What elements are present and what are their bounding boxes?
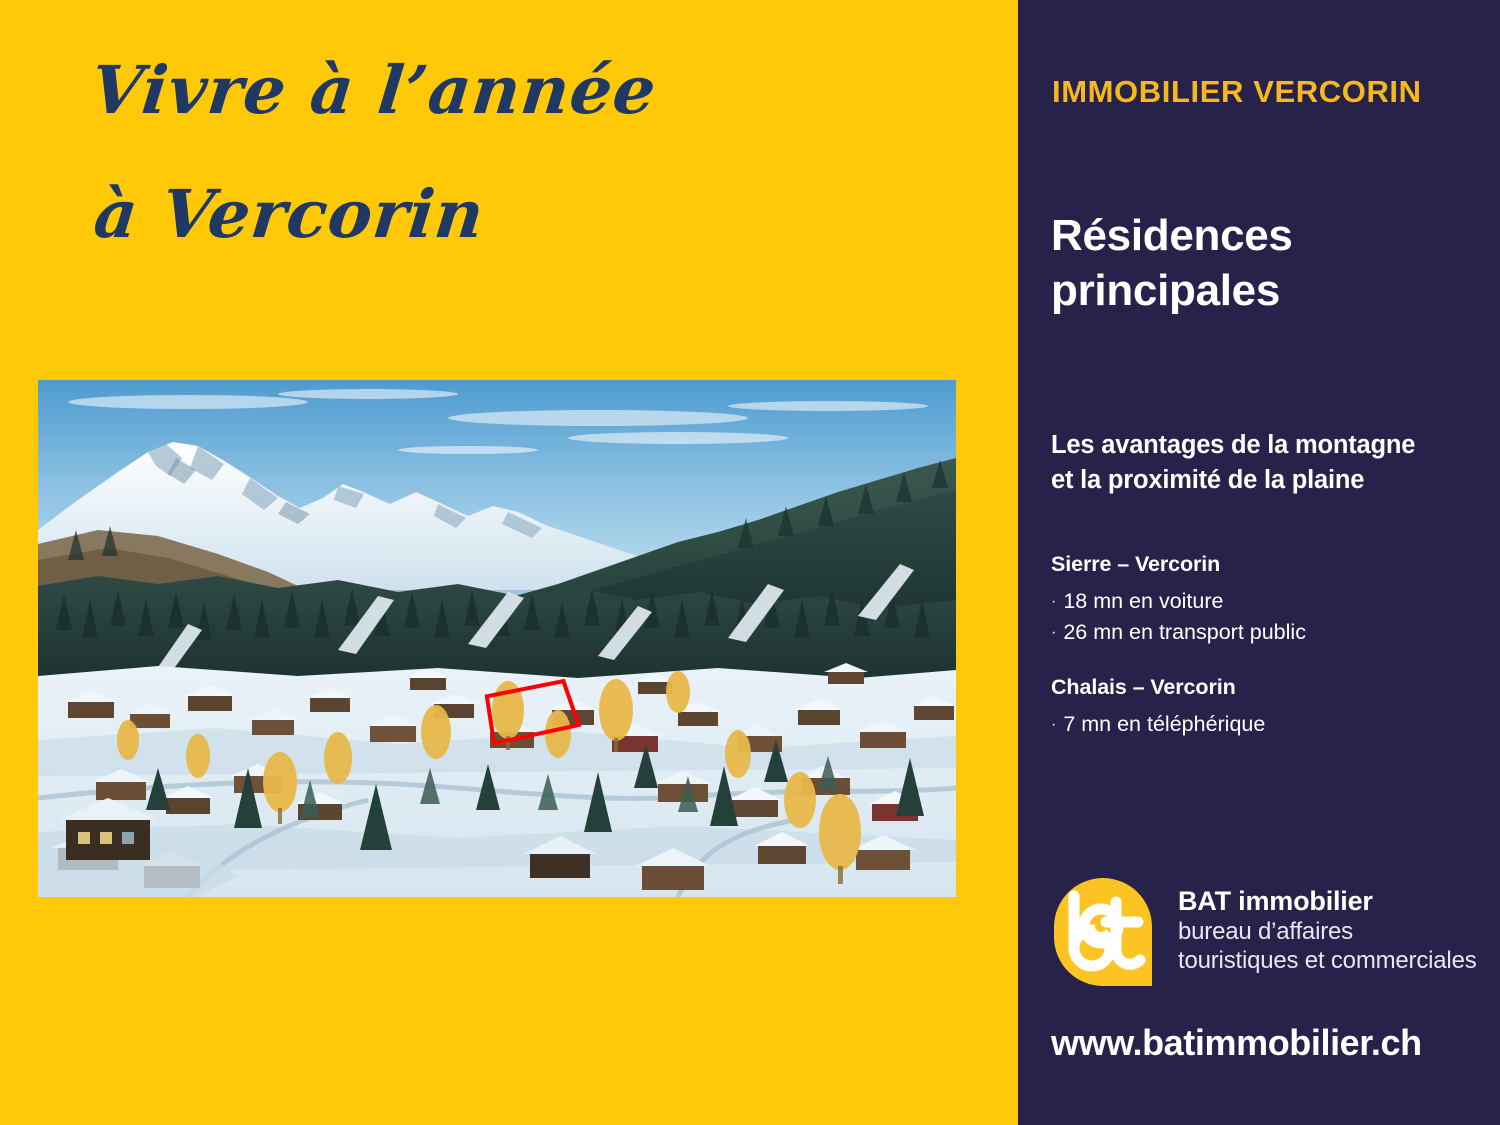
route-title: Sierre – Vercorin [1051, 552, 1481, 577]
website-url[interactable]: www.batimmobilier.ch [1051, 1022, 1422, 1064]
photo-svg [38, 380, 956, 897]
logo-tagline-line2: touristiques et commerciales [1178, 947, 1477, 976]
route-title: Chalais – Vercorin [1051, 675, 1481, 700]
panel-headline: Résidences principales [1051, 208, 1481, 318]
page-title-line1: Vivre à l’année [87, 51, 660, 129]
bat-monogram-svg [1054, 878, 1152, 986]
bat-logo-icon [1054, 878, 1152, 986]
route-item-label: 7 mn en téléphérique [1063, 709, 1265, 740]
brand-kicker: IMMOBILIER VERCORIN [1052, 75, 1482, 109]
route-item-label: 18 mn en voiture [1063, 586, 1223, 617]
panel-headline-line1: Résidences [1051, 211, 1293, 260]
route-group-chalais: Chalais – Vercorin · 7 mn en téléphériqu… [1051, 675, 1481, 740]
village-aerial-photo [38, 380, 956, 897]
bullet-icon: · [1051, 717, 1056, 733]
logo-tagline-line1: bureau d’affaires [1178, 918, 1477, 947]
logo-company-name: BAT immobilier [1178, 886, 1477, 918]
panel-subhead-line2: et la proximité de la plaine [1051, 463, 1500, 498]
page-title-line2: à Vercorin [72, 152, 965, 276]
panel-subhead-line1: Les avantages de la montagne [1051, 431, 1415, 459]
bullet-icon: · [1051, 594, 1056, 610]
page-title: Vivre à l’année à Vercorin [72, 28, 978, 276]
info-panel: IMMOBILIER VERCORIN Résidences principal… [1018, 0, 1500, 1125]
panel-headline-line2: principales [1051, 263, 1481, 318]
panel-subhead: Les avantages de la montagne et la proxi… [1051, 428, 1500, 498]
route-item: · 26 mn en transport public [1051, 617, 1481, 648]
route-item: · 7 mn en téléphérique [1051, 709, 1481, 740]
travel-times-list: Sierre – Vercorin · 18 mn en voiture · 2… [1051, 552, 1481, 740]
left-yellow-pane: Vivre à l’année à Vercorin [0, 0, 1018, 1125]
route-item: · 18 mn en voiture [1051, 586, 1481, 617]
company-logo-block[interactable]: BAT immobilier bureau d’affaires tourist… [1054, 878, 1477, 986]
bullet-icon: · [1051, 625, 1056, 641]
route-group-sierre: Sierre – Vercorin · 18 mn en voiture · 2… [1051, 552, 1481, 649]
logo-text-block: BAT immobilier bureau d’affaires tourist… [1178, 878, 1477, 975]
poster-root: Vivre à l’année à Vercorin [0, 0, 1500, 1125]
route-item-label: 26 mn en transport public [1063, 617, 1306, 648]
